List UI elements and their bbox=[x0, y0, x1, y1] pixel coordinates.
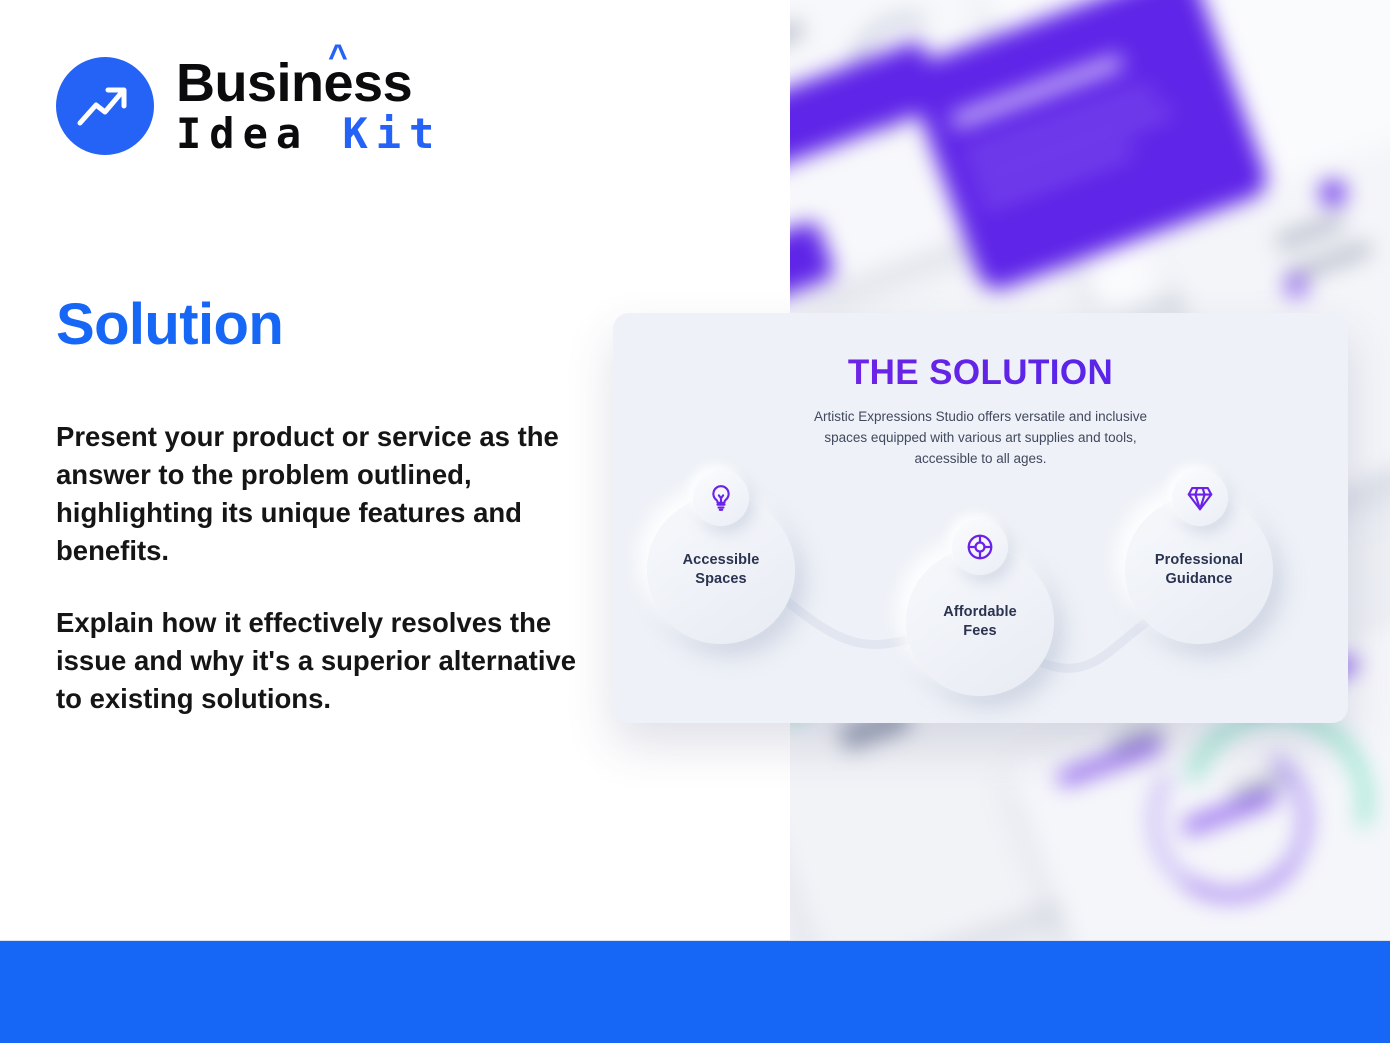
bottom-accent-bar bbox=[0, 941, 1390, 1043]
body-copy: Present your product or service as the a… bbox=[56, 418, 586, 718]
node-label: Affordable Fees bbox=[943, 603, 1017, 641]
lightbulb-icon bbox=[693, 470, 749, 526]
caret-icon: ^ bbox=[328, 40, 347, 74]
solution-card-title: THE SOLUTION bbox=[613, 353, 1348, 393]
brand-wordmark: Business ^ Idea Kit bbox=[176, 56, 442, 156]
diamond-icon bbox=[1172, 470, 1228, 526]
brand-kit-text: Kit bbox=[342, 109, 442, 158]
solution-diagram: Accessible Spaces Affordable Fees bbox=[613, 468, 1348, 723]
slide-root: Business ^ Idea Kit Solution Present you… bbox=[0, 0, 1390, 1043]
growth-arrow-icon bbox=[56, 57, 154, 155]
node-label: Accessible Spaces bbox=[683, 551, 760, 589]
solution-card-subtitle: Artistic Expressions Studio offers versa… bbox=[796, 407, 1166, 470]
bg-text-bar bbox=[950, 55, 1124, 129]
body-paragraph-1: Present your product or service as the a… bbox=[56, 418, 586, 570]
brand-name-text: Business bbox=[176, 53, 412, 113]
brand-name-line2: Idea Kit bbox=[176, 112, 442, 156]
bg-dot-shape bbox=[1320, 180, 1346, 206]
brand-logo: Business ^ Idea Kit bbox=[56, 56, 442, 156]
bg-dot-shape bbox=[1285, 275, 1307, 297]
lifebuoy-icon bbox=[952, 519, 1008, 575]
body-paragraph-2: Explain how it effectively resolves the … bbox=[56, 604, 586, 718]
brand-idea-text: Idea bbox=[176, 109, 309, 158]
brand-name-line1: Business ^ bbox=[176, 56, 442, 110]
node-label: Professional Guidance bbox=[1155, 551, 1243, 589]
solution-card: THE SOLUTION Artistic Expressions Studio… bbox=[613, 313, 1348, 723]
page-title: Solution bbox=[56, 295, 283, 356]
